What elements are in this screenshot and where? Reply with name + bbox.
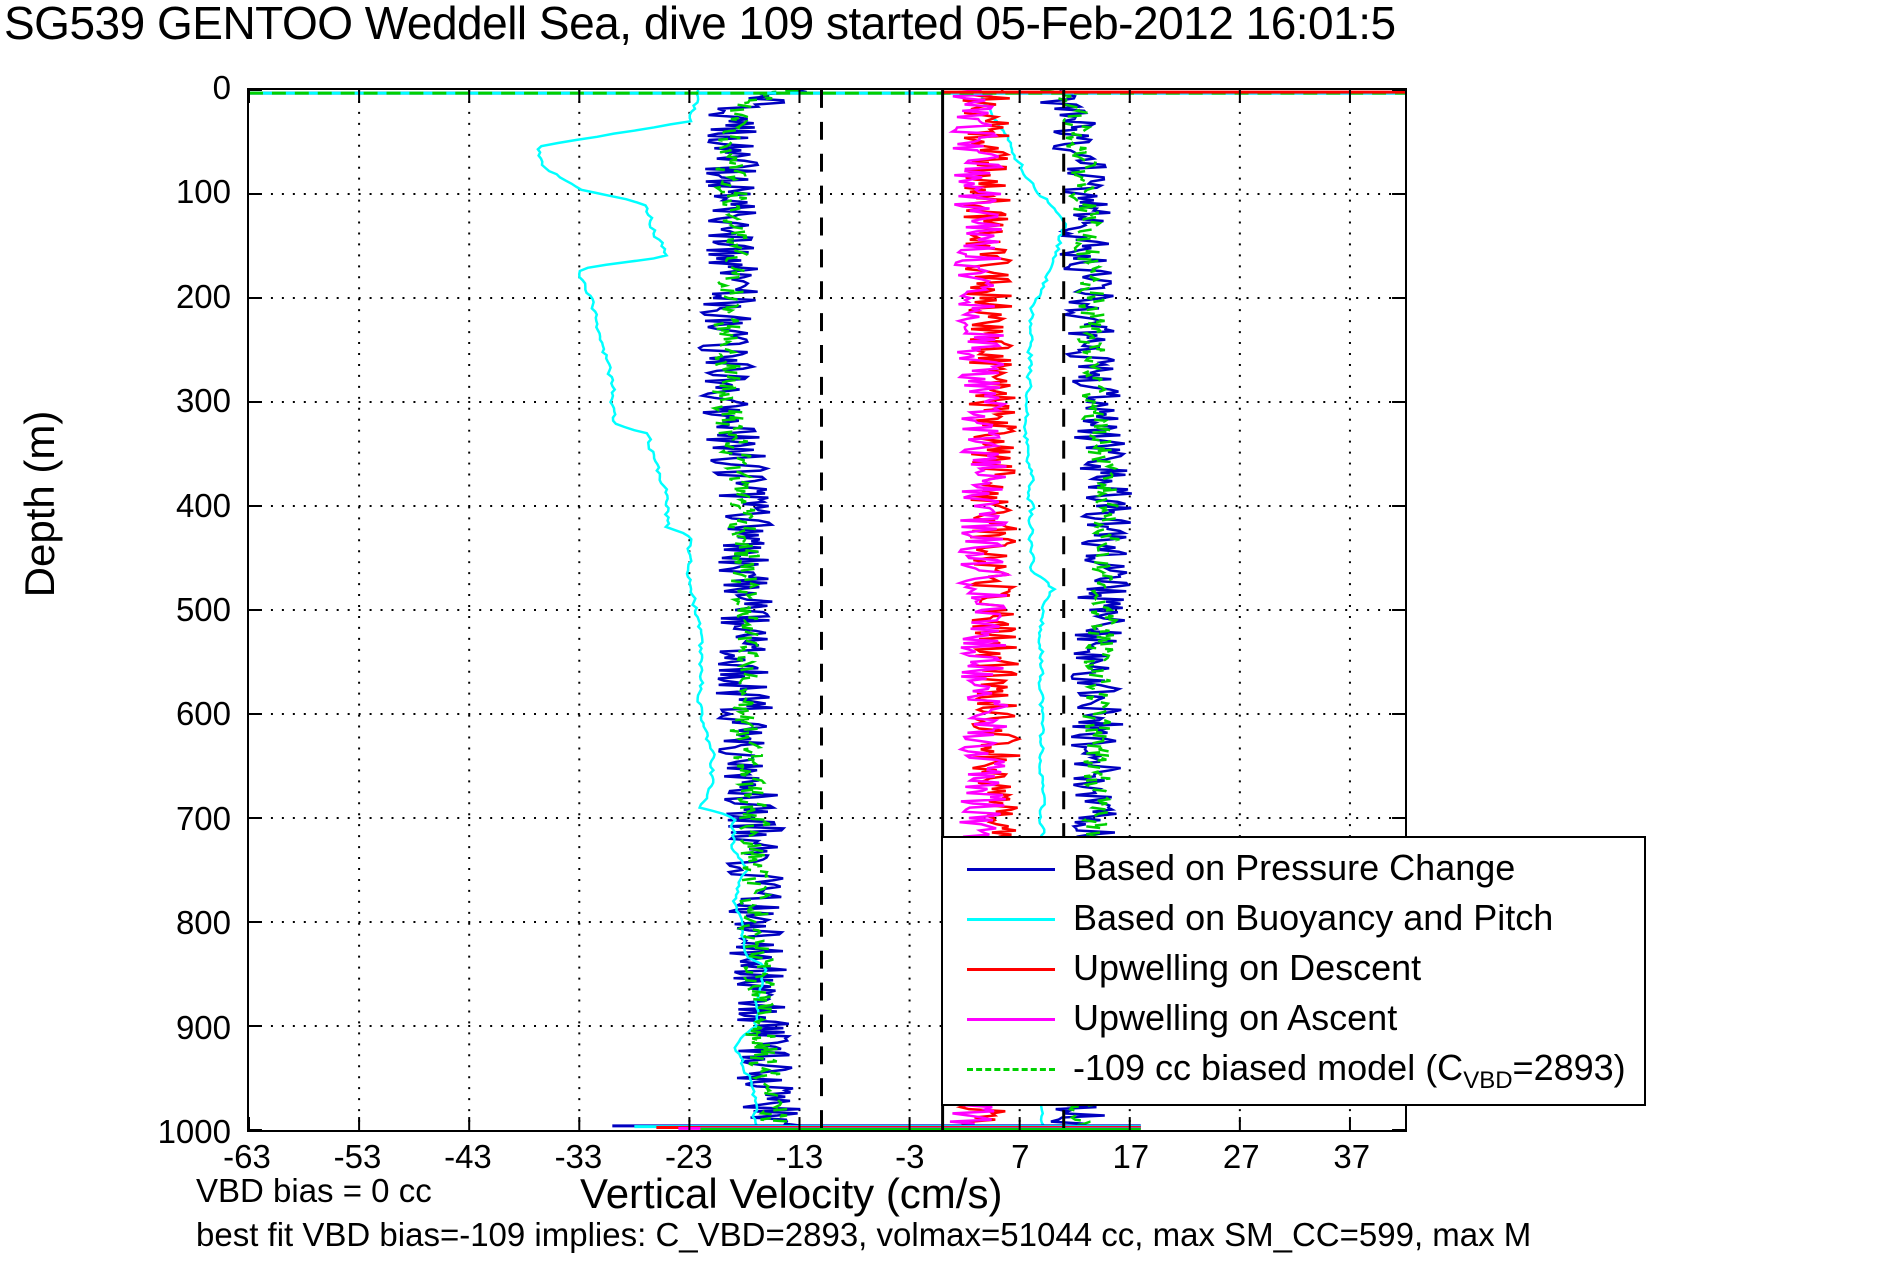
footer-annotation: best fit VBD bias=-109 implies: C_VBD=28…: [196, 1216, 1531, 1254]
legend-item[interactable]: Based on Buoyancy and Pitch: [943, 894, 1644, 944]
y-axis-label: Depth (m): [16, 289, 64, 719]
y-tick-label: 500: [101, 593, 231, 626]
x-tick-label: -43: [408, 1140, 528, 1173]
page-title: SG539 GENTOO Weddell Sea, dive 109 start…: [4, 0, 1396, 50]
legend-label-subscript: VBD: [1463, 1067, 1512, 1094]
y-tick-label: 800: [101, 906, 231, 939]
legend-item[interactable]: Based on Pressure Change: [943, 844, 1644, 894]
y-tick-label: 0: [101, 71, 231, 104]
x-tick-label: -33: [518, 1140, 638, 1173]
y-tick-label: 900: [101, 1011, 231, 1044]
y-tick-label: 200: [101, 280, 231, 313]
legend-swatch: [967, 868, 1055, 871]
y-tick-label: 400: [101, 489, 231, 522]
x-tick-label: 17: [1071, 1140, 1191, 1173]
y-tick-label: 100: [101, 175, 231, 208]
y-tick-label: 700: [101, 802, 231, 835]
legend-label: Based on Pressure Change: [1073, 846, 1515, 890]
legend-item[interactable]: Upwelling on Descent: [943, 944, 1644, 994]
x-tick-label: 7: [960, 1140, 1080, 1173]
vbd-bias-annotation: VBD bias = 0 cc: [196, 1172, 432, 1210]
legend-label: Based on Buoyancy and Pitch: [1073, 896, 1553, 940]
x-axis-label: Vertical Velocity (cm/s): [580, 1170, 1002, 1218]
x-tick-label: -63: [187, 1140, 307, 1173]
x-tick-label: -23: [629, 1140, 749, 1173]
y-tick-label: 300: [101, 384, 231, 417]
x-tick-label: -3: [850, 1140, 970, 1173]
x-tick-label: -53: [297, 1140, 417, 1173]
legend-label: -109 cc biased model (CVBD=2893): [1073, 1046, 1626, 1090]
legend-item[interactable]: -109 cc biased model (CVBD=2893): [943, 1044, 1644, 1094]
legend-swatch: [967, 1018, 1055, 1021]
legend-item[interactable]: Upwelling on Ascent: [943, 994, 1644, 1044]
x-tick-label: 37: [1292, 1140, 1412, 1173]
legend-swatch: [967, 968, 1055, 971]
legend-label: Upwelling on Descent: [1073, 946, 1421, 990]
legend-swatch: [967, 1068, 1055, 1071]
x-tick-label: -13: [739, 1140, 859, 1173]
x-tick-label: 27: [1181, 1140, 1301, 1173]
y-tick-label: 600: [101, 697, 231, 730]
chart-legend: Based on Pressure ChangeBased on Buoyanc…: [941, 836, 1646, 1106]
legend-swatch: [967, 918, 1055, 921]
legend-label: Upwelling on Ascent: [1073, 996, 1397, 1040]
